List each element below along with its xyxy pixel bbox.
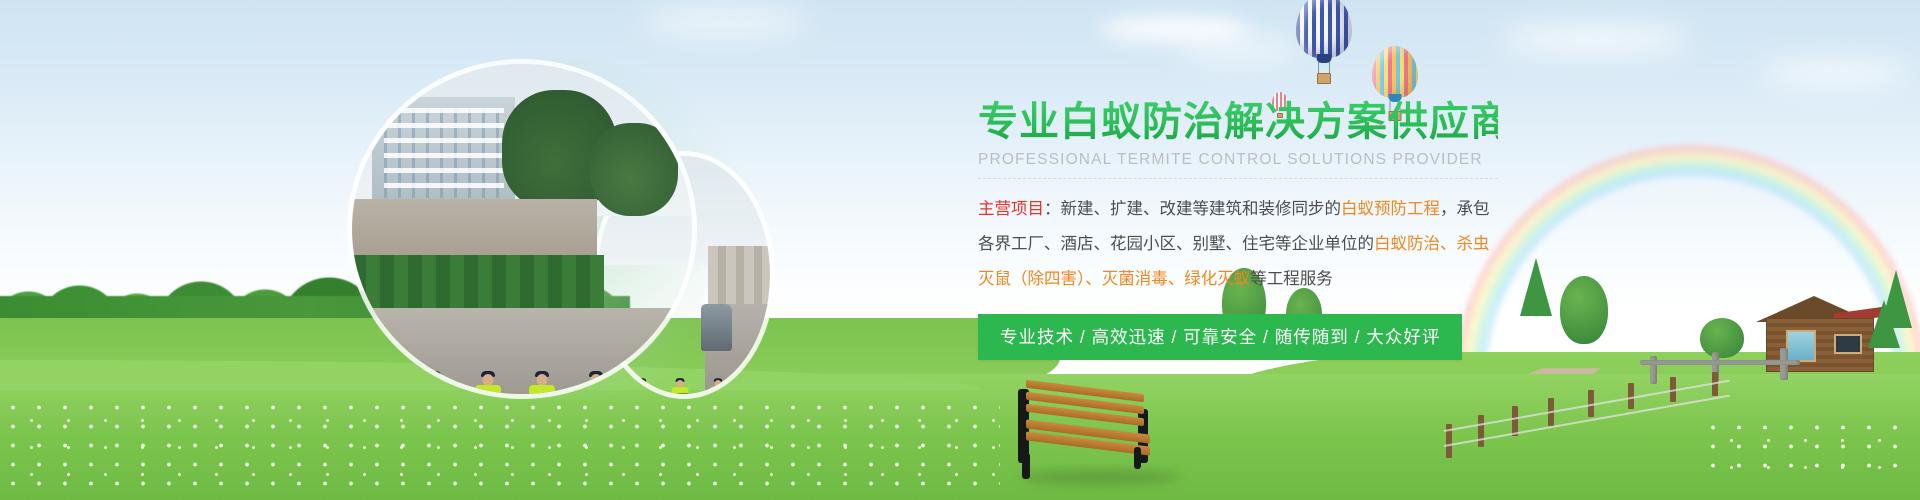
desc-line3-highlight: 灭鼠（除四害）、灭菌消毒、绿化灭蚁 (978, 270, 1250, 288)
conifer-tree-icon (1520, 258, 1552, 316)
subtitle: PROFESSIONAL TERMITE CONTROL SOLUTIONS P… (978, 151, 1498, 169)
hot-air-balloon-blue-icon (1296, 0, 1352, 58)
bench-shadow (1020, 469, 1180, 485)
fence-rail (1640, 360, 1800, 365)
page-title: 专业白蚁防治解决方案供应商 (978, 100, 1498, 144)
fence-post (1478, 415, 1484, 447)
tree-icon (1560, 276, 1608, 344)
bench-leg (1134, 447, 1141, 469)
hero-banner: 专业白蚁防治解决方案供应商 PROFESSIONAL TERMITE CONTR… (0, 0, 1920, 500)
cloud-icon (1760, 60, 1910, 86)
cloud-icon (1180, 38, 1300, 60)
banner-text-block: 专业白蚁防治解决方案供应商 PROFESSIONAL TERMITE CONTR… (978, 100, 1498, 360)
feature-tag-bar: 专业技术 / 高效迅速 / 可靠安全 / 随传随到 / 大众好评 (978, 314, 1462, 360)
tree-icon (1700, 318, 1744, 358)
desc-line1-plain-a: 新建、扩建、改建等建筑和装修同步的 (1061, 200, 1342, 218)
desc-line1-highlight: 白蚁预防工程 (1341, 200, 1440, 218)
conifer-tree-icon (1868, 300, 1900, 348)
park-bench (1012, 383, 1172, 488)
bench-leg (1022, 453, 1030, 479)
desc-line2-plain-a: 各界工厂、酒店、花园小区、别墅、住宅等企业单位的 (978, 235, 1374, 253)
cloud-icon (1500, 24, 1690, 54)
team-photo (352, 64, 764, 394)
hot-air-balloon-colorful-icon (1372, 46, 1418, 98)
desc-line1-plain-b: ，承包 (1440, 200, 1490, 218)
desc-colon: ： (1044, 200, 1061, 218)
desc-label: 主营项目 (978, 200, 1044, 218)
desc-line3-plain: 等工程服务 (1250, 270, 1333, 288)
service-description: 主营项目：新建、扩建、改建等建筑和装修同步的白蚁预防工程，承包 各界工厂、酒店、… (978, 192, 1498, 297)
divider (978, 178, 1498, 179)
desc-line2-highlight: 白蚁防治、杀虫 (1374, 235, 1490, 253)
cabin-window (1834, 334, 1862, 354)
team-photo-primary (352, 64, 692, 394)
cabin-window (1786, 330, 1816, 362)
cloud-icon (640, 10, 810, 34)
